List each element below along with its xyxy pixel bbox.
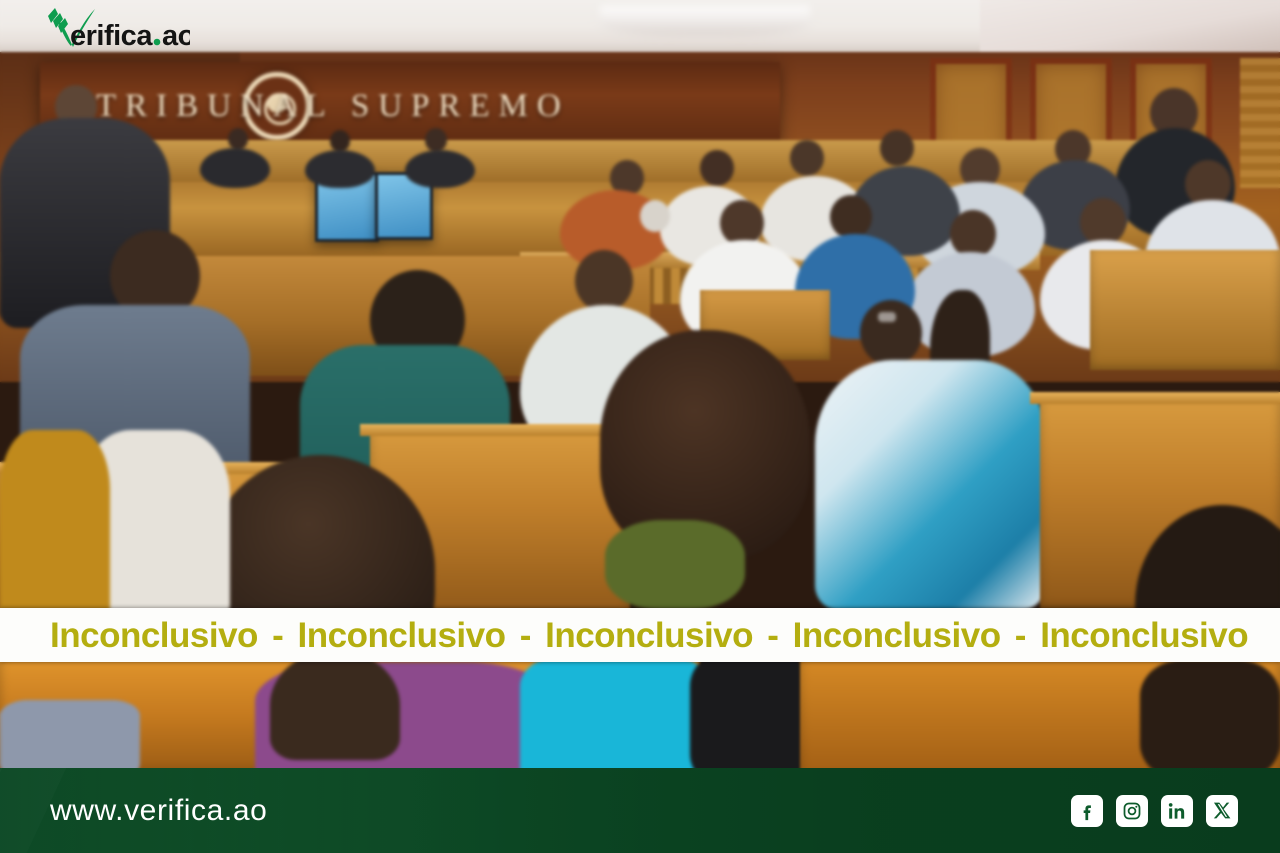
person-head xyxy=(1080,198,1126,246)
svg-text:erifica: erifica xyxy=(70,20,153,50)
person-head xyxy=(228,128,248,150)
person-head-foreground xyxy=(270,650,400,760)
pew-edge xyxy=(360,424,640,436)
courtroom-photo: TRIBUNAL SUPREMO xyxy=(0,0,1280,853)
pew-edge xyxy=(1030,392,1280,404)
social-links xyxy=(1071,795,1238,827)
verdict-label: Inconclusivo xyxy=(545,616,753,655)
instagram-icon[interactable] xyxy=(1116,795,1148,827)
person-patterned-blouse xyxy=(815,360,1045,610)
wall-paneling xyxy=(1240,58,1280,188)
person-torso xyxy=(200,148,270,188)
linkedin-icon[interactable] xyxy=(1161,795,1193,827)
person-head xyxy=(950,210,996,258)
verdict-label-strip: Inconclusivo - Inconclusivo - Inconclusi… xyxy=(0,618,1248,653)
person-head xyxy=(790,140,824,176)
person-torso xyxy=(305,150,375,188)
person-head xyxy=(425,128,447,152)
wooden-pew xyxy=(1090,250,1280,370)
verdict-separator: - xyxy=(505,616,545,655)
person-head xyxy=(880,130,914,166)
verdict-separator: - xyxy=(753,616,793,655)
ceiling-strip-right xyxy=(980,0,1280,58)
verdict-label: Inconclusivo xyxy=(50,616,258,655)
facebook-icon[interactable] xyxy=(1071,795,1103,827)
verdict-label: Inconclusivo xyxy=(1040,616,1248,655)
tribunal-sign-text: TRIBUNAL SUPREMO xyxy=(96,88,776,125)
person-dark-top xyxy=(690,655,810,785)
hair-accessory xyxy=(605,520,745,610)
judges-bench-top xyxy=(150,140,1160,186)
person-head xyxy=(830,195,872,239)
person-cyan-top xyxy=(520,655,710,785)
verdict-label: Inconclusivo xyxy=(793,616,1001,655)
verdict-label: Inconclusivo xyxy=(298,616,506,655)
verdict-separator: - xyxy=(258,616,298,655)
site-logo[interactable]: erifica ao xyxy=(40,5,190,51)
verdict-separator: - xyxy=(1001,616,1041,655)
person-head xyxy=(330,130,350,152)
person-masked-head xyxy=(640,200,670,232)
verdict-banner: Inconclusivo - Inconclusivo - Inconclusi… xyxy=(0,608,1280,662)
person-gold-top xyxy=(0,430,110,630)
person-head-foreground xyxy=(1140,660,1280,780)
x-twitter-icon[interactable] xyxy=(1206,795,1238,827)
footer-bar: www.verifica.ao xyxy=(0,768,1280,853)
person-head xyxy=(860,300,922,366)
eyeglasses-icon xyxy=(878,312,896,322)
person-head xyxy=(700,150,734,186)
fact-check-card: TRIBUNAL SUPREMO xyxy=(0,0,1280,853)
svg-text:ao: ao xyxy=(162,20,190,50)
site-url[interactable]: www.verifica.ao xyxy=(50,794,267,828)
verifica-logo-icon: erifica ao xyxy=(40,6,190,50)
person-torso xyxy=(405,150,475,188)
person-head xyxy=(575,250,633,312)
